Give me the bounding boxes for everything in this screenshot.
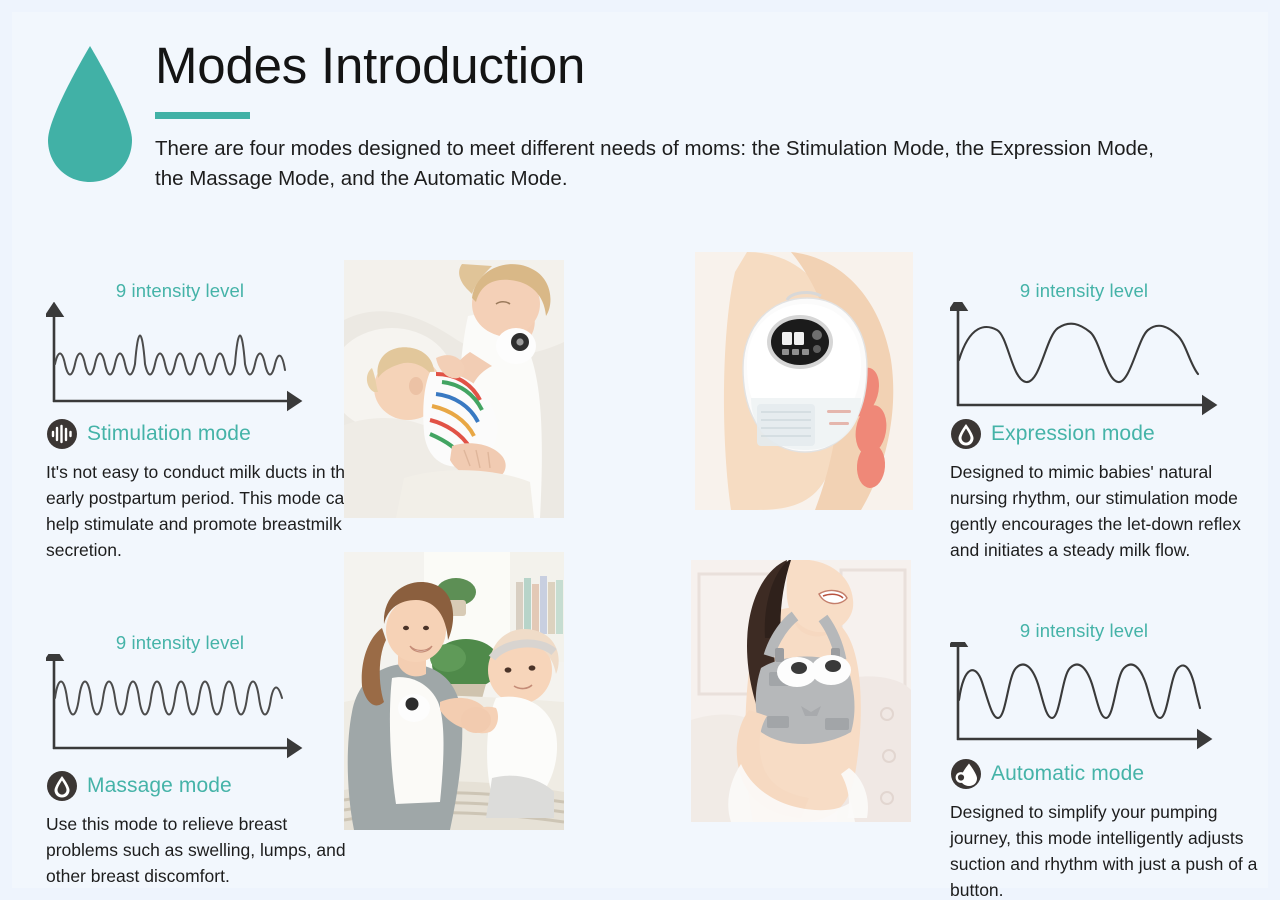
chart-massage: 9 intensity level xyxy=(46,632,314,764)
mode-label-row-expression: Expression mode xyxy=(950,418,1270,450)
mode-body-expression: Designed to mimic babies' natural nursin… xyxy=(950,459,1268,563)
mode-label-massage: Massage mode xyxy=(87,774,232,798)
page-title: Modes Introduction xyxy=(155,36,1235,96)
droplet-circle-icon xyxy=(46,770,78,802)
page-subtitle: There are four modes designed to meet di… xyxy=(155,134,1185,194)
mode-block-stimulation: 9 intensity level xyxy=(46,280,356,563)
content-panel: Modes Introduction There are four modes … xyxy=(12,12,1268,888)
mode-label-row-automatic: Automatic mode xyxy=(950,758,1270,790)
mode-block-automatic: 9 intensity level xyxy=(950,620,1270,900)
mother-playing-with-baby-photo xyxy=(344,552,564,830)
mode-block-expression: 9 intensity level xyxy=(950,280,1270,563)
waveform-circle-icon xyxy=(46,418,78,450)
chart-caption-stimulation: 9 intensity level xyxy=(46,280,314,302)
mode-label-expression: Expression mode xyxy=(991,422,1155,446)
double-droplet-circle-icon xyxy=(950,758,982,790)
title-underline-rule xyxy=(155,112,250,119)
mode-label-row-stimulation: Stimulation mode xyxy=(46,418,356,450)
chart-automatic: 9 intensity level xyxy=(950,620,1212,752)
mode-body-massage: Use this mode to relieve breast problems… xyxy=(46,811,356,889)
mode-label-row-massage: Massage mode xyxy=(46,770,356,802)
droplet-circle-icon xyxy=(950,418,982,450)
chart-stimulation: 9 intensity level xyxy=(46,280,314,412)
mode-body-stimulation: It's not easy to conduct milk ducts in t… xyxy=(46,459,356,563)
woman-wearing-pump-in-bra-photo xyxy=(691,560,911,822)
chart-caption-massage: 9 intensity level xyxy=(46,632,314,654)
header-text-block: Modes Introduction There are four modes … xyxy=(155,36,1235,194)
chart-caption-automatic: 9 intensity level xyxy=(950,620,1218,642)
chart-caption-expression: 9 intensity level xyxy=(950,280,1218,302)
mode-label-automatic: Automatic mode xyxy=(991,762,1144,786)
chart-expression: 9 intensity level xyxy=(950,280,1212,412)
mother-nursing-baby-photo xyxy=(344,260,564,518)
mode-label-stimulation: Stimulation mode xyxy=(87,422,251,446)
page-header: Modes Introduction There are four modes … xyxy=(12,12,1268,222)
water-drop-icon xyxy=(44,44,136,184)
mode-body-automatic: Designed to simplify your pumping journe… xyxy=(950,799,1268,900)
mode-block-massage: 9 intensity level xyxy=(46,632,356,889)
wearable-breast-pump-photo xyxy=(695,252,913,510)
